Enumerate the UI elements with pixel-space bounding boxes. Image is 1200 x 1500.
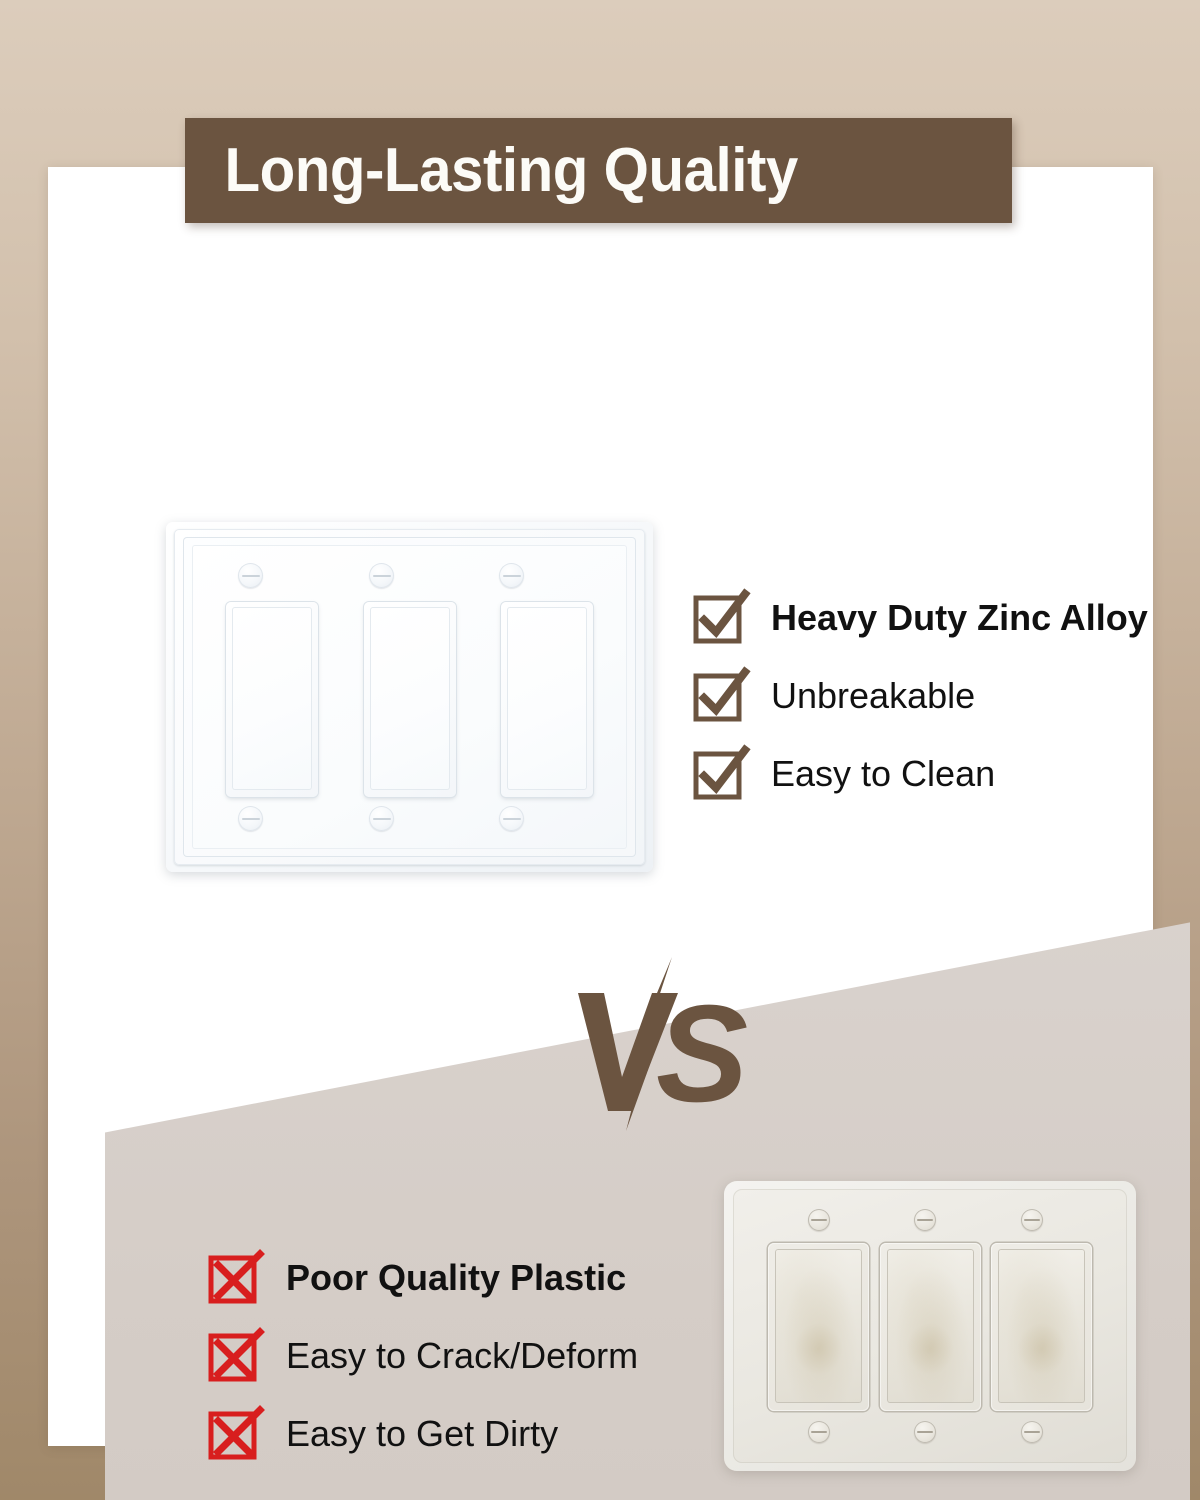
feature-item: Poor Quality Plastic (208, 1239, 678, 1317)
feature-label: Unbreakable (771, 678, 975, 714)
rocker-switch-row (768, 1243, 1092, 1411)
content-card: Heavy Duty Zinc Alloy Unbreakable (48, 167, 1153, 1446)
feature-item: Heavy Duty Zinc Alloy (693, 579, 1198, 657)
checkbox-check-icon (693, 670, 745, 722)
screw-bottom-right (1021, 1421, 1043, 1443)
screw-top-center (369, 563, 394, 588)
screw-top-center (914, 1209, 936, 1231)
plastic-wall-plate-image (724, 1181, 1136, 1471)
screw-bottom-center (369, 806, 394, 831)
title-banner: Long-Lasting Quality (185, 118, 1012, 223)
metal-wall-plate-image (166, 522, 653, 872)
feature-item: Easy to Get Dirty (208, 1395, 678, 1473)
good-feature-list: Heavy Duty Zinc Alloy Unbreakable (693, 579, 1198, 813)
feature-item: Easy to Crack/Deform (208, 1317, 678, 1395)
screw-bottom-left (808, 1421, 830, 1443)
infographic-page: Heavy Duty Zinc Alloy Unbreakable (0, 0, 1200, 1500)
checkbox-check-icon (693, 748, 745, 800)
rocker-switch-1[interactable] (226, 602, 318, 797)
feature-label: Easy to Crack/Deform (286, 1338, 638, 1374)
rocker-switch-2[interactable] (364, 602, 456, 797)
feature-label: Heavy Duty Zinc Alloy (771, 600, 1148, 636)
screw-top-left (238, 563, 263, 588)
screw-top-right (1021, 1209, 1043, 1231)
rocker-paddle (998, 1249, 1085, 1403)
rocker-switch-3[interactable] (991, 1243, 1092, 1411)
screw-top-right (499, 563, 524, 588)
rocker-paddle (232, 607, 312, 790)
page-title: Long-Lasting Quality (185, 140, 798, 202)
feature-label: Easy to Clean (771, 756, 995, 792)
rocker-paddle (887, 1249, 974, 1403)
svg-text:S: S (656, 977, 748, 1131)
checkbox-cross-icon (208, 1330, 260, 1382)
versus-badge: S (560, 949, 760, 1139)
checkbox-check-icon (693, 592, 745, 644)
rocker-paddle (775, 1249, 862, 1403)
rocker-switch-1[interactable] (768, 1243, 869, 1411)
rocker-switch-2[interactable] (880, 1243, 981, 1411)
rocker-paddle (507, 607, 587, 790)
screw-bottom-right (499, 806, 524, 831)
feature-label: Poor Quality Plastic (286, 1260, 626, 1296)
rocker-switch-row (226, 602, 593, 797)
feature-item: Unbreakable (693, 657, 1198, 735)
feature-item: Easy to Clean (693, 735, 1198, 813)
screw-top-left (808, 1209, 830, 1231)
screw-bottom-center (914, 1421, 936, 1443)
screw-bottom-left (238, 806, 263, 831)
rocker-paddle (370, 607, 450, 790)
feature-label: Easy to Get Dirty (286, 1416, 558, 1452)
checkbox-cross-icon (208, 1408, 260, 1460)
checkbox-cross-icon (208, 1252, 260, 1304)
rocker-switch-3[interactable] (501, 602, 593, 797)
bad-feature-list: Poor Quality Plastic Easy to Crack/Defor… (208, 1239, 678, 1473)
